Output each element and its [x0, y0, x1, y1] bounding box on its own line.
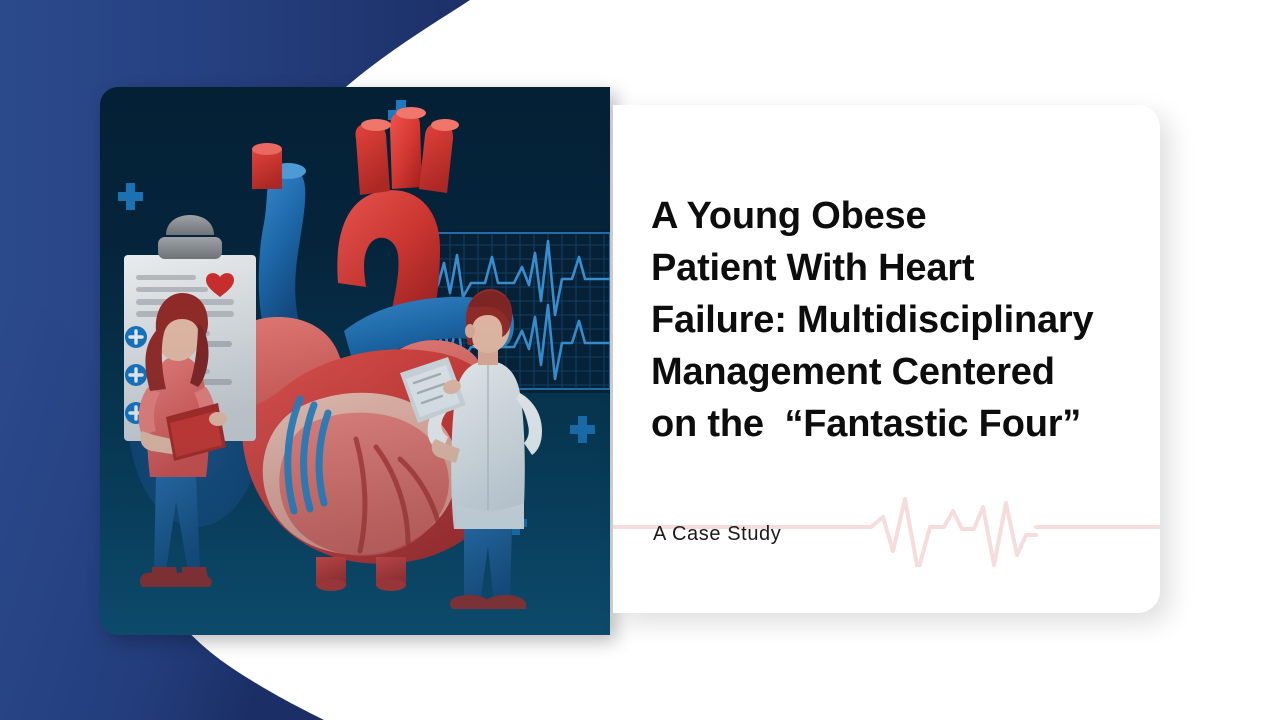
- illustration-artwork: [100, 87, 610, 635]
- subtitle: A Case Study: [653, 523, 781, 546]
- title-card: A Young ObesePatient With HeartFailure: …: [613, 105, 1160, 613]
- medical-illustration-panel: [100, 87, 610, 635]
- page-title-line-1: A Young Obese: [651, 190, 1137, 242]
- presentation-slide: A Young ObesePatient With HeartFailure: …: [0, 0, 1280, 720]
- page-title-line-2: Patient With Heart: [651, 242, 1137, 294]
- page-title: A Young ObesePatient With HeartFailure: …: [651, 190, 1137, 450]
- page-title-line-5: on the “Fantastic Four”: [651, 398, 1137, 450]
- page-title-line-3: Failure: Multidisciplinary: [651, 294, 1137, 346]
- page-title-line-4: Management Centered: [651, 346, 1137, 398]
